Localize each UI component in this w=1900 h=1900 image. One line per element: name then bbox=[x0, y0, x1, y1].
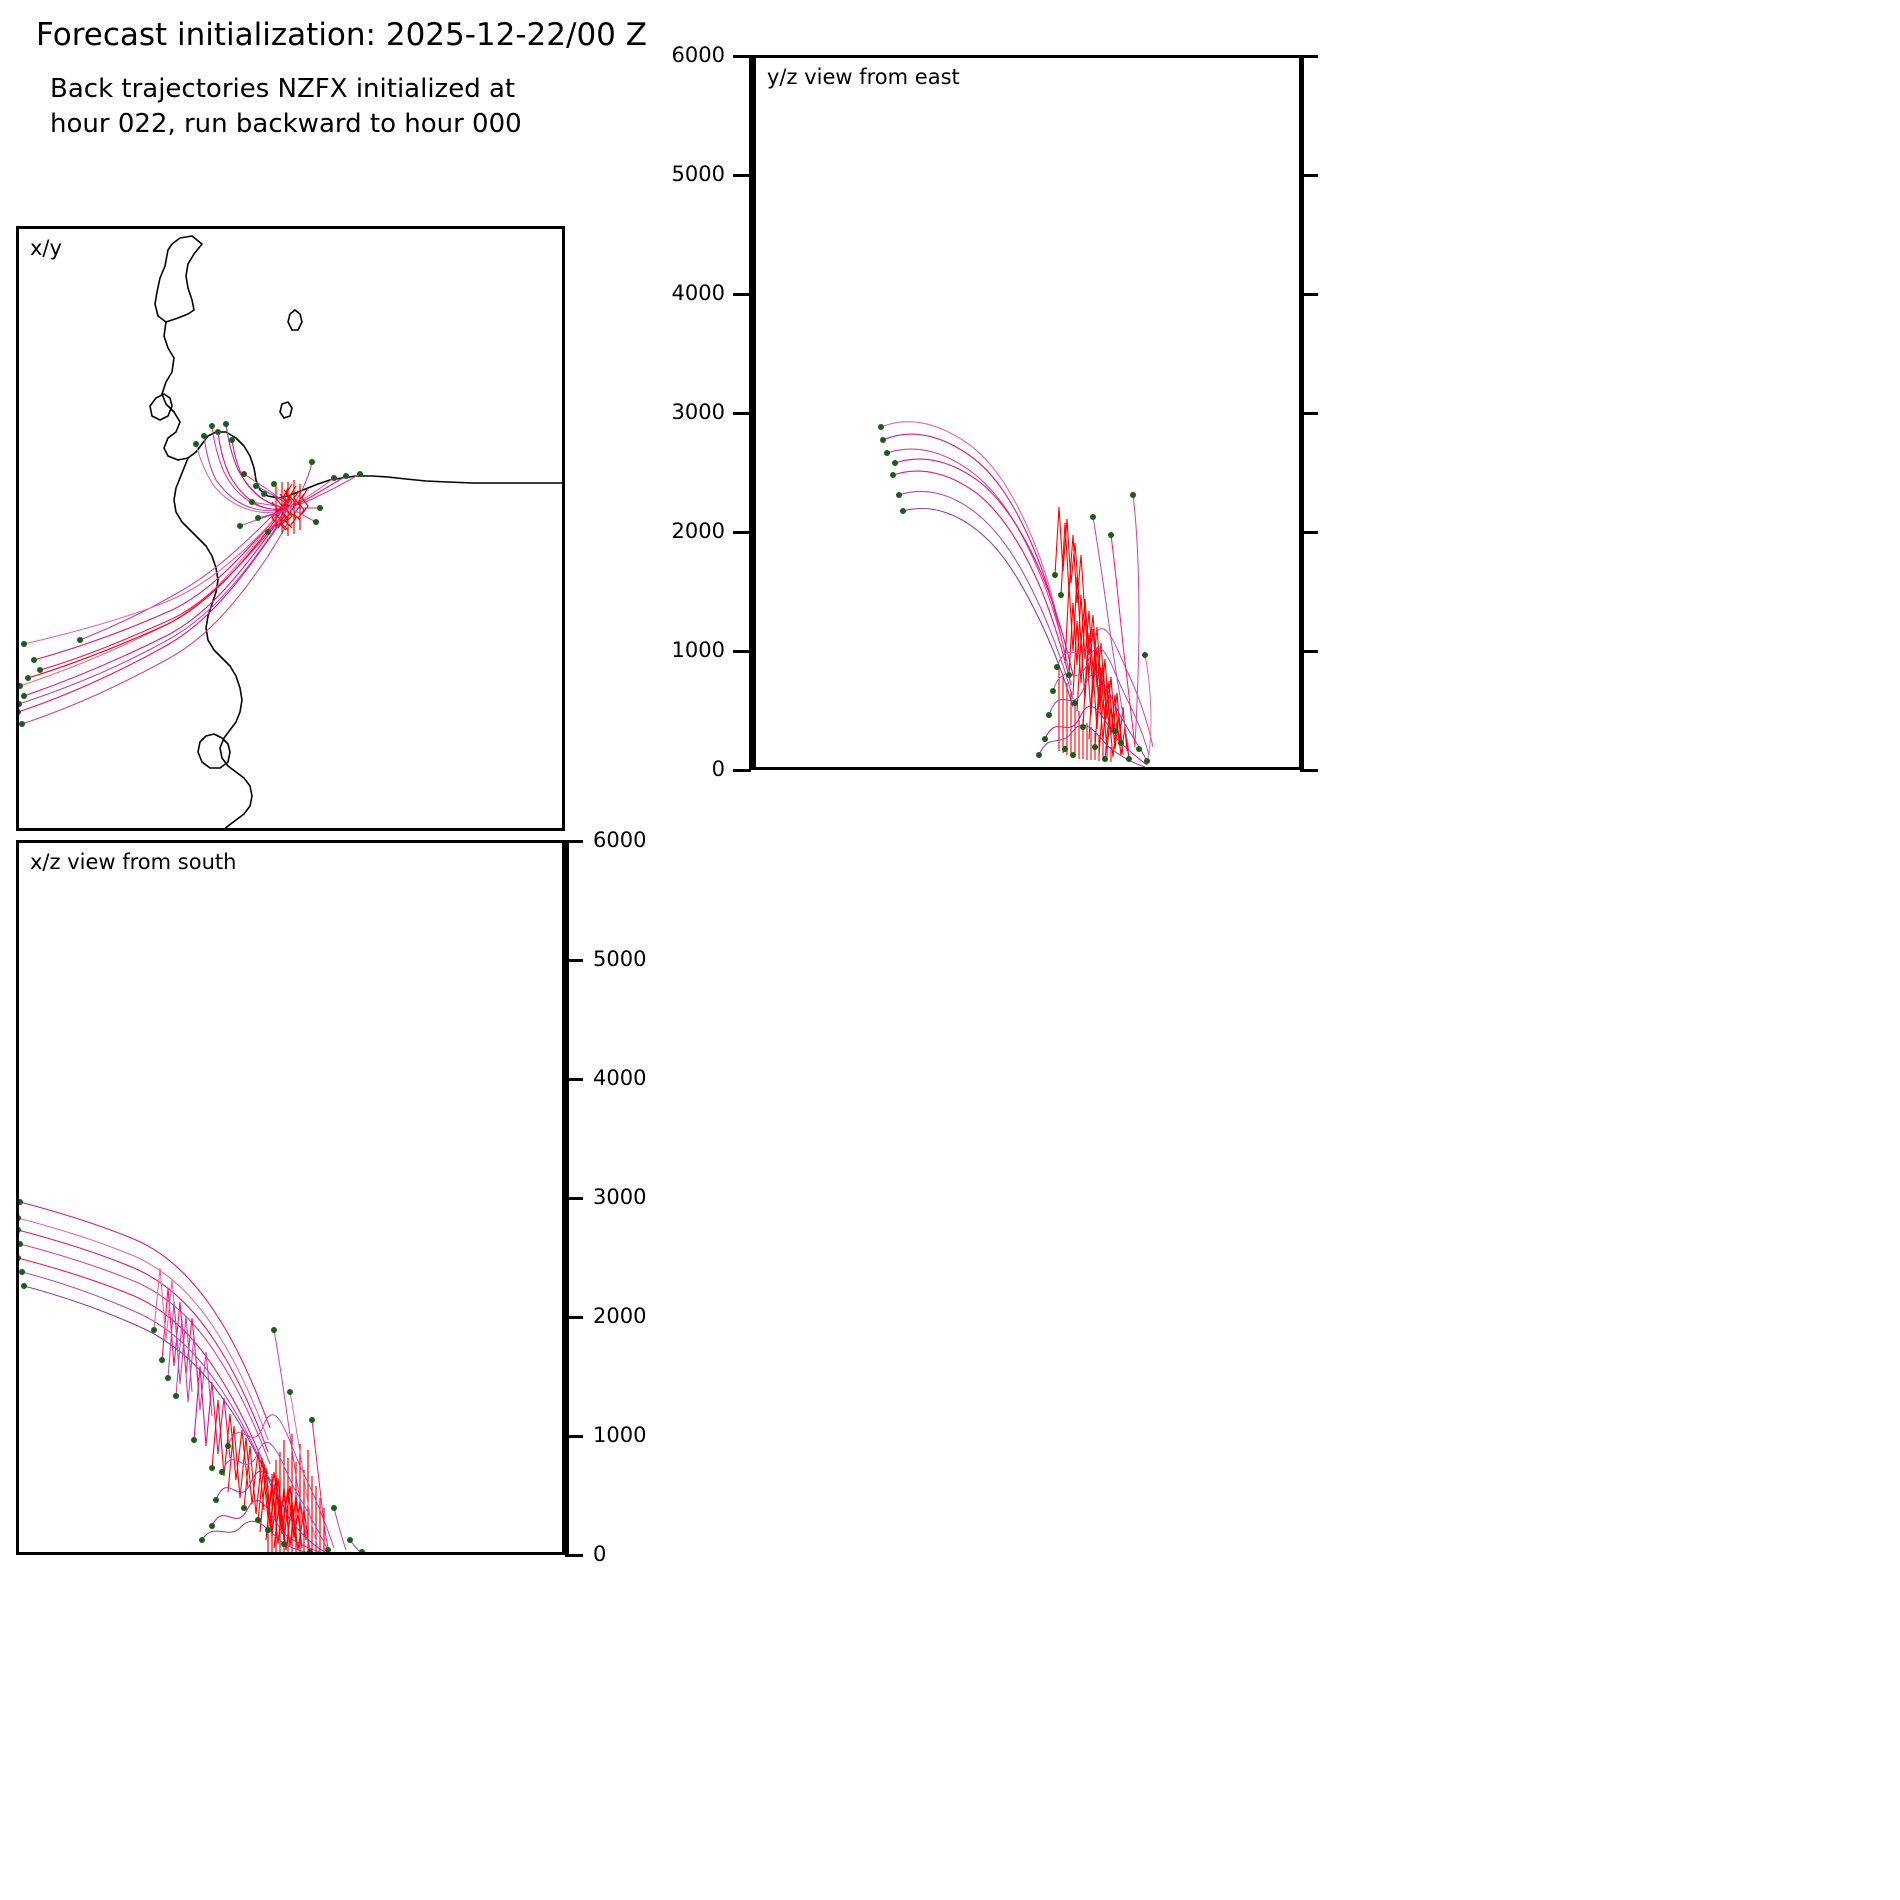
yz-ticklabel: 0 bbox=[712, 759, 725, 780]
yz-right-tick bbox=[1300, 412, 1318, 415]
coastline-path bbox=[150, 236, 565, 831]
xz-ticklabel: 4000 bbox=[593, 1068, 646, 1089]
yz-tick bbox=[733, 55, 751, 58]
yz-tick bbox=[733, 650, 751, 653]
xz-tick bbox=[565, 1197, 583, 1200]
yz-ticklabel: 1000 bbox=[672, 640, 725, 661]
xz-ticklabel: 1000 bbox=[593, 1425, 646, 1446]
panel-xy-map[interactable]: x/y bbox=[16, 226, 565, 831]
trajectory-lines-xz-arms bbox=[18, 1202, 272, 1488]
xz-tick bbox=[565, 1078, 583, 1081]
xz-tick bbox=[565, 1316, 583, 1319]
xz-axis[interactable]: 6000 5000 4000 3000 2000 1000 0 bbox=[565, 840, 685, 1555]
yz-axis-right bbox=[1300, 55, 1420, 770]
yz-ticklabel: 3000 bbox=[672, 402, 725, 423]
panel-xz-label: x/z view from south bbox=[30, 850, 236, 874]
xz-ticklabel: 5000 bbox=[593, 949, 646, 970]
xz-plot-canvas bbox=[16, 840, 565, 1555]
yz-tick bbox=[733, 412, 751, 415]
trajectory-core-yz bbox=[1055, 507, 1129, 762]
panel-yz-label: y/z view from east bbox=[767, 65, 960, 89]
yz-ticklabel: 2000 bbox=[672, 521, 725, 542]
trajectory-lines-xy bbox=[18, 498, 290, 724]
page-title: Forecast initialization: 2025-12-22/00 Z bbox=[36, 18, 647, 52]
yz-tick bbox=[733, 769, 751, 772]
panel-yz-view[interactable]: y/z view from east bbox=[753, 55, 1302, 770]
trajectory-lines-xy-nw bbox=[196, 424, 288, 513]
yz-right-tick bbox=[1300, 293, 1318, 296]
yz-right-tick bbox=[1300, 531, 1318, 534]
yz-right-tick bbox=[1300, 650, 1318, 653]
yz-axis[interactable]: 6000 5000 4000 3000 2000 1000 0 bbox=[633, 55, 753, 770]
page-subtitle: Back trajectories NZFX initialized at ho… bbox=[50, 72, 690, 142]
xy-plot-canvas bbox=[16, 226, 565, 831]
panel-xy-label: x/y bbox=[30, 236, 62, 260]
xz-tick bbox=[565, 1435, 583, 1438]
xz-tick bbox=[565, 1554, 583, 1557]
yz-plot-canvas bbox=[753, 55, 1302, 770]
yz-tick bbox=[733, 174, 751, 177]
xz-ticklabel: 6000 bbox=[593, 830, 646, 851]
yz-right-tick bbox=[1300, 55, 1318, 58]
xz-tick bbox=[565, 840, 583, 843]
yz-right-tick bbox=[1300, 174, 1318, 177]
yz-ticklabel: 5000 bbox=[672, 164, 725, 185]
panel-xz-view[interactable]: x/z view from south bbox=[16, 840, 565, 1555]
yz-ticklabel: 4000 bbox=[672, 283, 725, 304]
yz-ticklabel: 6000 bbox=[672, 45, 725, 66]
xz-ticklabel: 0 bbox=[593, 1544, 606, 1565]
xz-ticklabel: 2000 bbox=[593, 1306, 646, 1327]
yz-tick bbox=[733, 531, 751, 534]
trajectory-lines-yz-arms bbox=[881, 422, 1073, 707]
xz-ticklabel: 3000 bbox=[593, 1187, 646, 1208]
yz-tick bbox=[733, 293, 751, 296]
yz-right-tick bbox=[1300, 769, 1318, 772]
xz-tick bbox=[565, 959, 583, 962]
